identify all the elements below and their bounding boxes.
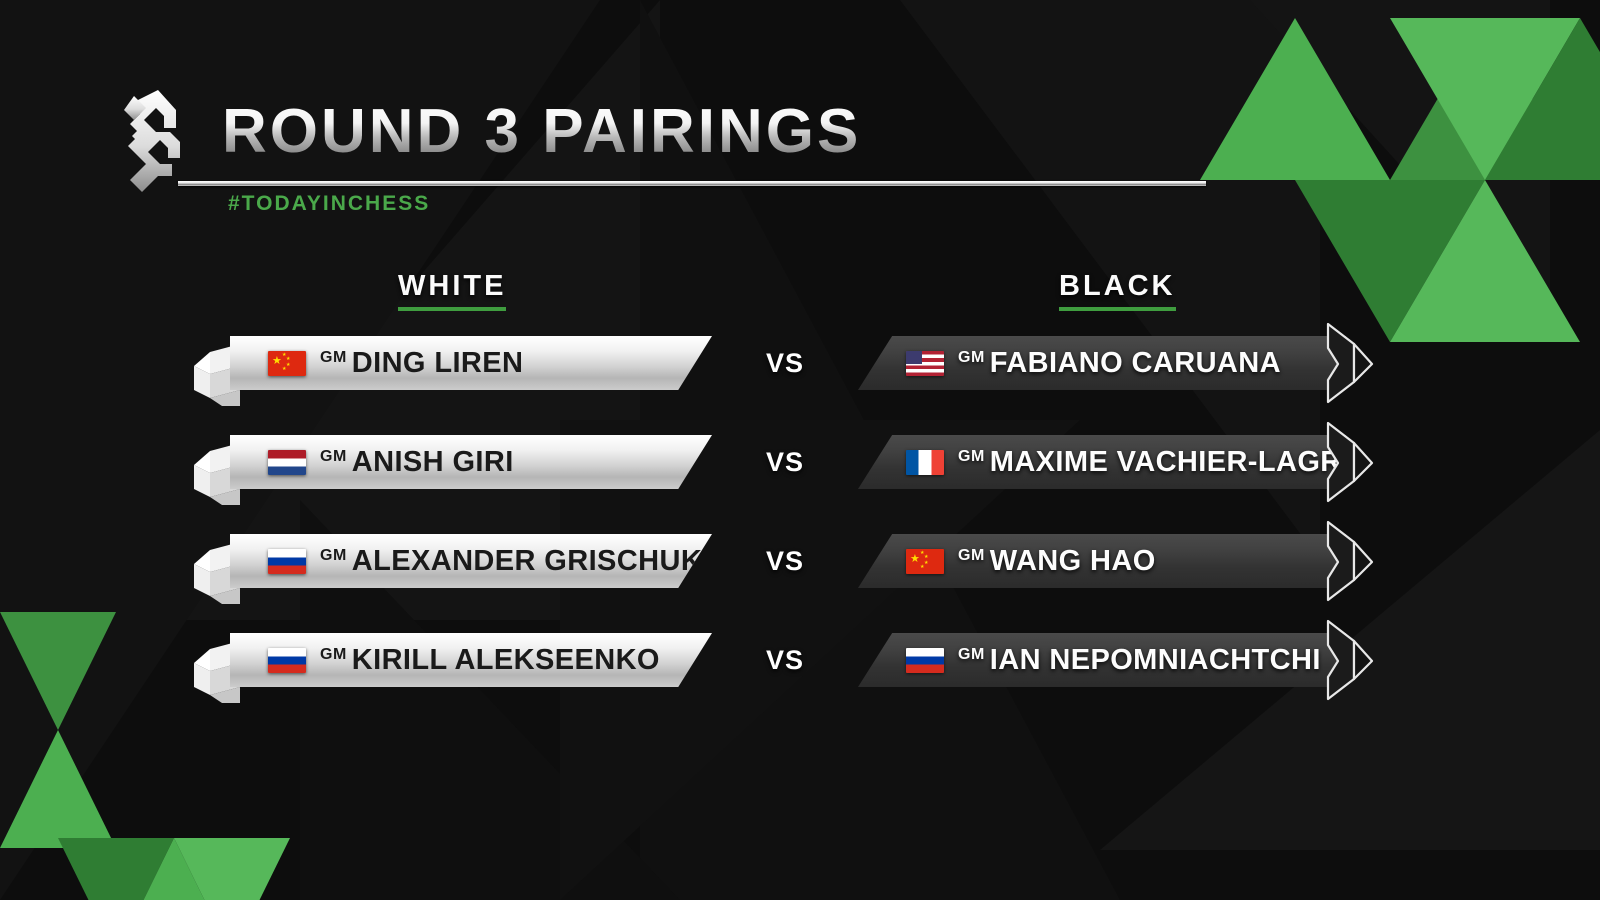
black-player-name: WANG HAO (990, 545, 1156, 578)
flag-france-icon (906, 450, 944, 475)
white-player-title: GM (320, 547, 347, 565)
vs-separator: VS (766, 546, 804, 577)
black-player-title: GM (958, 547, 985, 565)
black-player-title: GM (958, 646, 985, 664)
flag-russia-icon (268, 549, 306, 574)
black-player-title: GM (958, 349, 985, 367)
black-player-bar[interactable]: GM MAXIME VACHIER-LAGRAVE (858, 435, 1346, 489)
black-player-name: IAN NEPOMNIACHTCHI (990, 644, 1321, 677)
pairing-row: GM ALEXANDER GRISCHUK VS ★★★★★ GM WANG H… (0, 530, 1600, 600)
white-player-bar[interactable]: GM KIRILL ALEKSEENKO (230, 633, 712, 687)
vs-separator: VS (766, 348, 804, 379)
white-player-title: GM (320, 349, 347, 367)
white-player-name: DING LIREN (352, 347, 524, 380)
flag-china-icon: ★★★★★ (906, 549, 944, 574)
pairing-row: GM KIRILL ALEKSEENKO VS GM IAN NEPOMNIAC… (0, 629, 1600, 699)
chevron-right-icon (1320, 419, 1376, 505)
black-player-bar[interactable]: GM IAN NEPOMNIACHTCHI (858, 633, 1346, 687)
flag-russia-icon (268, 648, 306, 673)
pairing-row: GM ANISH GIRI VS GM MAXIME VACHIER-LAGRA… (0, 431, 1600, 501)
flag-china-icon: ★★★★★ (268, 351, 306, 376)
white-player-title: GM (320, 448, 347, 466)
white-player-name: ALEXANDER GRISCHUK (352, 545, 702, 578)
black-player-name: FABIANO CARUANA (990, 347, 1281, 380)
vs-separator: VS (766, 645, 804, 676)
pairings-list: ★★★★★ GM DING LIREN VS GM FABIANO CARUAN… (0, 0, 1600, 900)
white-player-name: KIRILL ALEKSEENKO (352, 644, 660, 677)
pairing-row: ★★★★★ GM DING LIREN VS GM FABIANO CARUAN… (0, 332, 1600, 402)
chevron-right-icon (1320, 320, 1376, 406)
black-player-bar[interactable]: ★★★★★ GM WANG HAO (858, 534, 1346, 588)
white-player-bar[interactable]: ★★★★★ GM DING LIREN (230, 336, 712, 390)
flag-netherlands-icon (268, 450, 306, 475)
white-player-title: GM (320, 646, 347, 664)
chevron-right-icon (1320, 518, 1376, 604)
black-player-bar[interactable]: GM FABIANO CARUANA (858, 336, 1346, 390)
white-player-name: ANISH GIRI (352, 446, 514, 479)
white-player-bar[interactable]: GM ALEXANDER GRISCHUK (230, 534, 712, 588)
flag-russia-icon (906, 648, 944, 673)
vs-separator: VS (766, 447, 804, 478)
flag-usa-icon (906, 351, 944, 376)
white-player-bar[interactable]: GM ANISH GIRI (230, 435, 712, 489)
black-player-title: GM (958, 448, 985, 466)
chevron-right-icon (1320, 617, 1376, 703)
